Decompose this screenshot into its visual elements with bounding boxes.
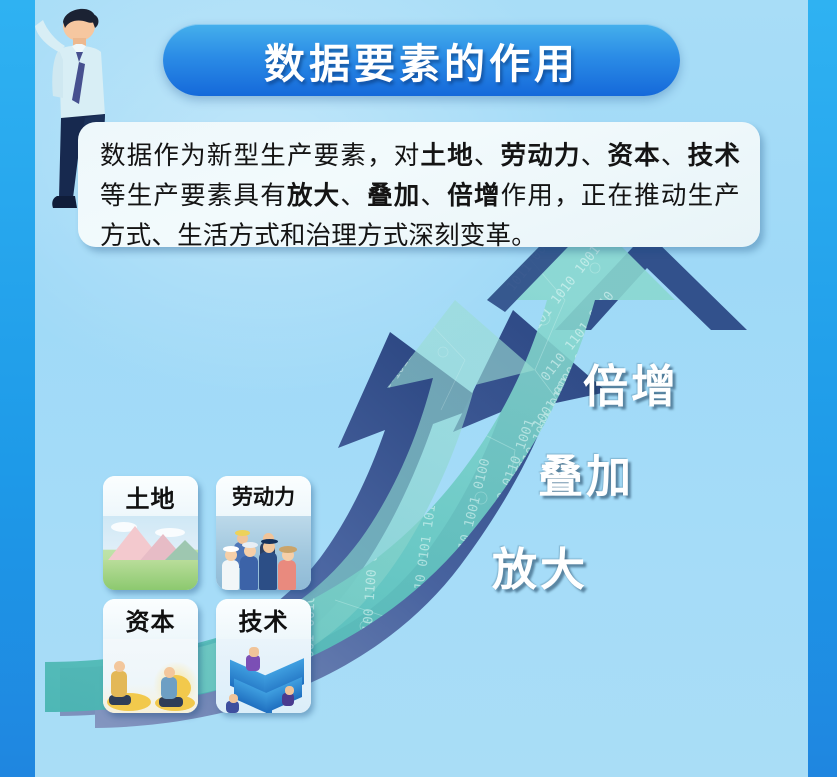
card-labor[interactable]: 劳动力 xyxy=(216,476,311,590)
card-technology[interactable]: 技术 xyxy=(216,599,311,713)
card-technology-label: 技术 xyxy=(216,599,311,639)
card-capital[interactable]: 资本 xyxy=(103,599,198,713)
description-text: 数据作为新型生产要素，对土地、劳动力、资本、技术等生产要素具有放大、叠加、倍增作… xyxy=(100,136,740,256)
arrow-label-fangda: 放大 xyxy=(492,533,588,598)
card-capital-label: 资本 xyxy=(103,599,198,639)
page-title: 数据要素的作用 xyxy=(264,30,579,90)
card-labor-label: 劳动力 xyxy=(216,476,311,516)
title-banner: 数据要素的作用 xyxy=(163,24,680,96)
infographic-poster: 0100 1001 0110 1011 0010 0110 0101 1010 … xyxy=(0,0,837,777)
card-land-label: 土地 xyxy=(103,476,198,516)
card-land[interactable]: 土地 xyxy=(103,476,198,590)
description-card: 数据作为新型生产要素，对土地、劳动力、资本、技术等生产要素具有放大、叠加、倍增作… xyxy=(78,122,760,247)
gold-coins-icon xyxy=(103,639,198,713)
group-of-workers-icon xyxy=(216,516,311,590)
mountains-meadow-icon xyxy=(103,516,198,590)
arrow-label-beizeng: 倍增 xyxy=(583,350,679,415)
arrow-label-diejia: 叠加 xyxy=(538,440,634,505)
isometric-technology-icon xyxy=(216,639,311,713)
